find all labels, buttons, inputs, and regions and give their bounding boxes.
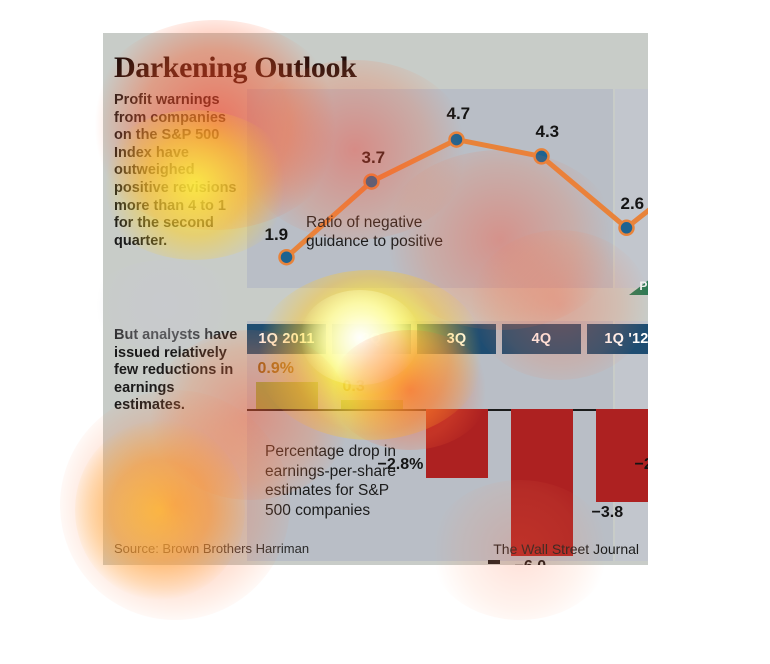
lead-paragraph-top: Profit warnings from companies on the S&…	[114, 92, 246, 250]
page-title: Darkening Outlook	[114, 51, 356, 85]
line-chart-value-label-3: 4.7	[447, 104, 471, 124]
quarter-label-1: 1Q 2011	[247, 324, 326, 354]
bar-value-label-5: −3.8	[592, 504, 624, 522]
bar-value-label-1: 0.9%	[258, 360, 294, 378]
infographic-container: Darkening Outlook Profit warnings from c…	[103, 33, 648, 565]
line-chart-point-5	[620, 221, 634, 235]
bar-value-label-2: 0.3	[343, 378, 365, 396]
quarter-label-2: 2Q	[332, 324, 411, 354]
line-chart-value-label-5: 2.6	[621, 194, 645, 214]
line-chart-caption: Ratio of negative guidance to positive	[306, 213, 486, 251]
line-chart-value-label-2: 3.7	[362, 148, 386, 168]
quarter-label-4: 4Q	[502, 324, 581, 354]
quarter-label-5: 1Q '12	[587, 324, 648, 354]
bar-4	[511, 409, 573, 556]
line-chart-value-label-1: 1.9	[265, 225, 289, 245]
source-credit: Source: Brown Brothers Harriman	[114, 541, 309, 556]
arrow-label-line1: MORE	[628, 265, 648, 279]
quarter-label-3: 3Q	[417, 324, 496, 354]
publisher-credit: The Wall Street Journal	[493, 541, 639, 557]
line-chart-point-3	[450, 133, 464, 147]
bar-chart-caption: Percentage drop in earnings-per-share es…	[265, 442, 417, 520]
bar-value-label-4: −6.0	[515, 558, 547, 565]
bar-value-label-6: −2.8	[635, 456, 649, 474]
bar-1	[256, 382, 318, 409]
footer-mark	[488, 560, 500, 564]
quarter-label-strip: 1Q 20112Q3Q4Q1Q '122Q	[247, 324, 648, 354]
arrow-label-line2: PESSIMISTIC	[628, 279, 648, 293]
more-pessimistic-label: MORE PESSIMISTIC	[628, 265, 648, 293]
line-chart-value-label-4: 4.3	[536, 122, 560, 142]
bar-2	[341, 400, 403, 409]
line-chart-point-4	[535, 149, 549, 163]
bar-3	[426, 409, 488, 478]
line-chart-point-1	[280, 250, 294, 264]
lead-paragraph-bottom: But analysts have issued relatively few …	[114, 327, 246, 415]
line-chart-point-2	[365, 175, 379, 189]
